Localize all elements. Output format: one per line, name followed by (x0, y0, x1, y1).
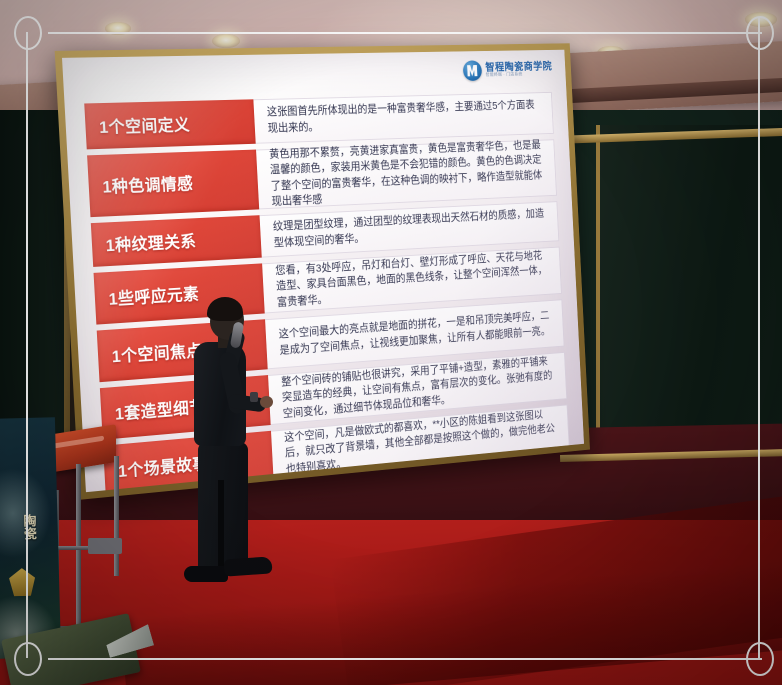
downlight-icon (212, 34, 240, 48)
poster-emblem-icon (9, 568, 36, 597)
row-text: 这个空间最大的亮点就是地面的拼花，一是和吊顶完美呼应，二是成为了空间焦点，让视线… (278, 308, 555, 358)
row-text: 黄色用那不累赘，亮黄进家真富贵，黄色是富贵奢华色，也是最温馨的颜色，家装用米黄色… (269, 138, 548, 210)
downlight-icon (105, 22, 131, 35)
presenter-shoe (184, 566, 228, 582)
row-label: 1种色调情感 (87, 150, 259, 218)
presenter-shoe (223, 556, 272, 576)
row-text: 纹理是团型纹理，通过团型的纹理表现出天然石材的质感，加造型体现空间的奢华。 (273, 206, 550, 250)
row-label: 1个空间定义 (84, 99, 255, 149)
presenter-hand (260, 396, 273, 408)
stool-rung (88, 538, 122, 554)
row-text: 您看，有3处呼应，吊灯和台灯、壁灯形成了呼应、天花与地花造型、家具台面黑色，地面… (275, 248, 553, 310)
row-text: 这张图首先所体现出的是一种富贵奢华感，主要通过5个方面表现出来的。 (267, 98, 545, 136)
row-label: 1种纹理关系 (91, 215, 262, 267)
presenter-leg-gap (218, 480, 224, 572)
row-body: 黄色用那不累赘，亮黄进家真富贵，黄色是富贵奢华色，也是最温馨的颜色，家装用米黄色… (256, 139, 557, 209)
presenter (176, 300, 272, 610)
presenter-hair (207, 297, 243, 321)
side-poster: 陶瓷 (0, 417, 61, 659)
wristwatch-icon (250, 392, 258, 402)
left-wall-panel (0, 110, 70, 440)
projection-screen[interactable]: 智程陶瓷商学院 智能终端 · 门店系统 1个空间定义 这张图首先所体现出的是一种… (62, 50, 584, 492)
stool-leg (114, 456, 119, 576)
downlight-icon (745, 12, 777, 27)
slide-content: 1个空间定义 这张图首先所体现出的是一种富贵奢华感，主要通过5个方面表现出来的。… (62, 50, 584, 492)
poster-text: 陶瓷 (5, 514, 36, 541)
presentation-scene: 智程陶瓷商学院 智能终端 · 门店系统 1个空间定义 这张图首先所体现出的是一种… (0, 0, 782, 685)
right-wall-panel (596, 125, 782, 465)
screen-surface: 智程陶瓷商学院 智能终端 · 门店系统 1个空间定义 这张图首先所体现出的是一种… (62, 50, 584, 492)
row-body: 这张图首先所体现出的是一种富贵奢华感，主要通过5个方面表现出来的。 (253, 92, 553, 144)
